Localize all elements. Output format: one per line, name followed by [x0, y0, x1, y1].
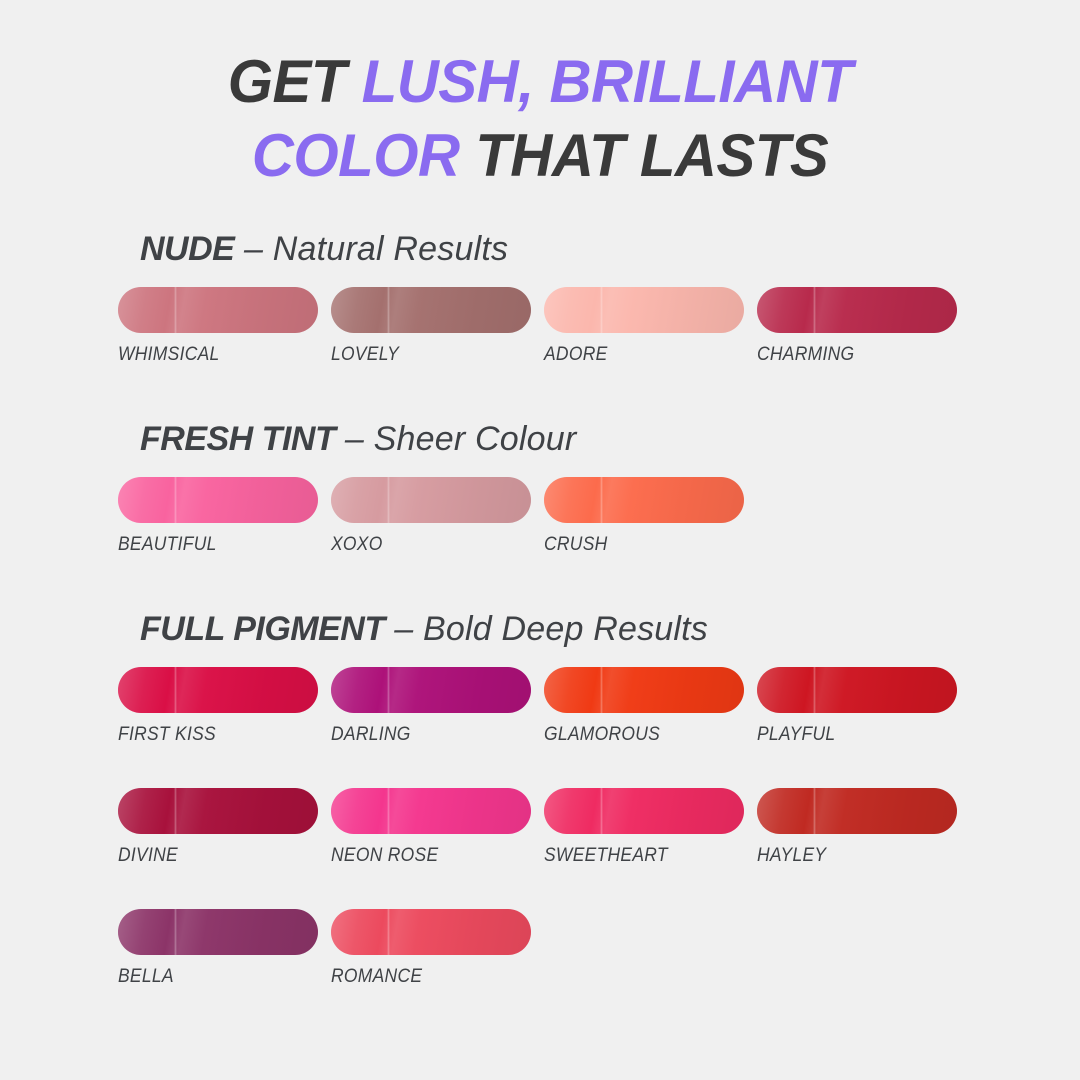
headline-block: GET LUSH, BRILLIANT COLOR THAT LASTS: [0, 0, 1080, 186]
shade-name-label: FIRST KISS: [118, 724, 314, 746]
section-title-bold: FRESH TINT: [140, 420, 335, 458]
swatch-cell[interactable]: NEON ROSE: [331, 788, 544, 867]
swatch-cell[interactable]: BELLA: [118, 909, 331, 988]
shade-name-label: SWEETHEART: [544, 845, 740, 867]
shade-swatch[interactable]: [757, 287, 957, 333]
shade-sections: NUDE – Natural ResultsWHIMSICALLOVELYADO…: [0, 230, 1080, 988]
swatch-cell[interactable]: FIRST KISS: [118, 667, 331, 746]
swatch-cell[interactable]: WHIMSICAL: [118, 287, 331, 366]
shade-name-label: ROMANCE: [331, 966, 527, 988]
shade-name-label: LOVELY: [331, 344, 527, 366]
section-title-bold: FULL PIGMENT: [140, 610, 385, 648]
swatch-row: BELLAROMANCE: [118, 909, 1080, 988]
shade-swatch[interactable]: [118, 477, 318, 523]
swatch-cell[interactable]: BEAUTIFUL: [118, 477, 331, 556]
swatch-cell[interactable]: LOVELY: [331, 287, 544, 366]
shade-name-label: DIVINE: [118, 845, 314, 867]
shade-name-label: WHIMSICAL: [118, 344, 314, 366]
swatch-cell[interactable]: GLAMOROUS: [544, 667, 757, 746]
shade-swatch[interactable]: [331, 667, 531, 713]
swatch-cell[interactable]: CRUSH: [544, 477, 757, 556]
swatch-cell[interactable]: DARLING: [331, 667, 544, 746]
swatch-cell[interactable]: PLAYFUL: [757, 667, 970, 746]
shade-swatch[interactable]: [544, 287, 744, 333]
swatch-row: FIRST KISSDARLINGGLAMOROUSPLAYFUL: [118, 667, 1080, 746]
shade-swatch[interactable]: [331, 477, 531, 523]
shade-name-label: GLAMOROUS: [544, 724, 740, 746]
shade-section: FULL PIGMENT – Bold Deep ResultsFIRST KI…: [118, 610, 1080, 988]
swatch-cell[interactable]: HAYLEY: [757, 788, 970, 867]
section-title-light: Natural Results: [273, 230, 508, 268]
shade-swatch[interactable]: [331, 788, 531, 834]
section-title-separator: –: [335, 420, 373, 458]
shade-name-label: CRUSH: [544, 534, 740, 556]
section-title: FRESH TINT – Sheer Colour: [140, 420, 1080, 459]
swatch-row: WHIMSICALLOVELYADORECHARMING: [118, 287, 1080, 366]
shade-name-label: XOXO: [331, 534, 527, 556]
shade-swatch[interactable]: [331, 287, 531, 333]
shade-swatch[interactable]: [118, 909, 318, 955]
swatch-cell[interactable]: XOXO: [331, 477, 544, 556]
section-spacer: [118, 366, 1080, 420]
swatch-cell[interactable]: SWEETHEART: [544, 788, 757, 867]
swatch-row: BEAUTIFULXOXOCRUSH: [118, 477, 1080, 556]
headline-line-2-dark: THAT LASTS: [475, 122, 828, 189]
shade-name-label: CHARMING: [757, 344, 953, 366]
shade-swatch[interactable]: [757, 667, 957, 713]
section-title-separator: –: [234, 230, 272, 268]
section-title-bold: NUDE: [140, 230, 234, 268]
headline-line-1: GET LUSH, BRILLIANT: [16, 52, 1064, 112]
section-title: NUDE – Natural Results: [140, 230, 1080, 269]
shade-name-label: HAYLEY: [757, 845, 953, 867]
swatch-cell[interactable]: ADORE: [544, 287, 757, 366]
row-spacer: [118, 867, 1080, 891]
shade-name-label: ADORE: [544, 344, 740, 366]
shade-swatch[interactable]: [544, 667, 744, 713]
shade-swatch[interactable]: [118, 287, 318, 333]
section-title-light: Sheer Colour: [374, 420, 577, 458]
shade-section: NUDE – Natural ResultsWHIMSICALLOVELYADO…: [118, 230, 1080, 366]
headline-line-1-accent: LUSH, BRILLIANT: [362, 48, 853, 115]
swatch-row: DIVINENEON ROSESWEETHEARTHAYLEY: [118, 788, 1080, 867]
shade-name-label: NEON ROSE: [331, 845, 527, 867]
headline-line-2-accent: COLOR: [252, 122, 475, 189]
swatch-cell[interactable]: CHARMING: [757, 287, 970, 366]
headline-line-1-dark: GET: [228, 48, 362, 115]
swatch-cell[interactable]: ROMANCE: [331, 909, 544, 988]
shade-swatch[interactable]: [757, 788, 957, 834]
swatch-cell[interactable]: DIVINE: [118, 788, 331, 867]
shade-swatch[interactable]: [331, 909, 531, 955]
section-title-separator: –: [385, 610, 423, 648]
section-title-light: Bold Deep Results: [423, 610, 708, 648]
shade-section: FRESH TINT – Sheer ColourBEAUTIFULXOXOCR…: [118, 420, 1080, 556]
shade-swatch[interactable]: [118, 788, 318, 834]
shade-name-label: BELLA: [118, 966, 314, 988]
shade-name-label: PLAYFUL: [757, 724, 953, 746]
shade-swatch[interactable]: [118, 667, 318, 713]
shade-swatch[interactable]: [544, 788, 744, 834]
section-spacer: [118, 556, 1080, 610]
shade-name-label: BEAUTIFUL: [118, 534, 314, 556]
section-title: FULL PIGMENT – Bold Deep Results: [140, 610, 1080, 649]
shade-swatch[interactable]: [544, 477, 744, 523]
row-spacer: [118, 746, 1080, 770]
shade-name-label: DARLING: [331, 724, 527, 746]
headline-line-2: COLOR THAT LASTS: [16, 126, 1064, 186]
